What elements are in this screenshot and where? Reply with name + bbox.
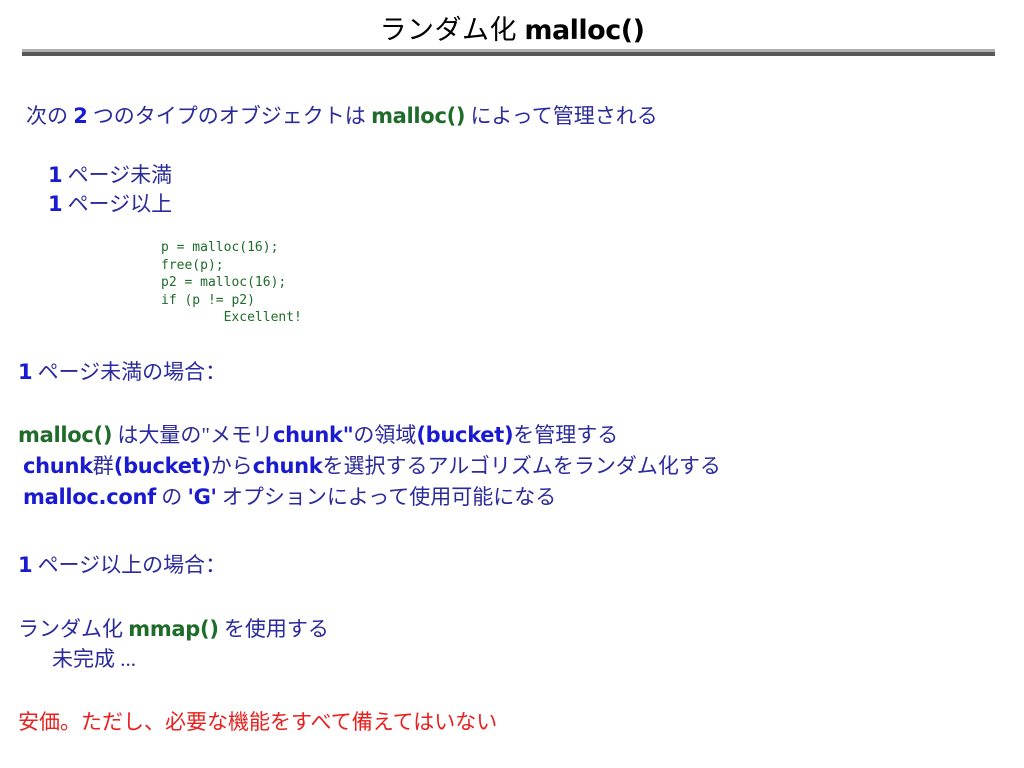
bullet-label: ページ以上 <box>68 192 173 216</box>
code-block: p = malloc(16); free(p); p2 = malloc(16)… <box>161 239 302 327</box>
line-2-text-c: を選択するアルゴリズムをランダム化する <box>322 454 720 478</box>
keyword-malloc: malloc() <box>18 423 112 447</box>
keyword-bucket: (bucket) <box>114 454 211 478</box>
section-one-line-3: malloc.conf の 'G' オプションによって使用可能になる <box>23 481 556 511</box>
intro-post: つのタイプのオブジェクトは <box>93 104 366 128</box>
footer-note: 安価。ただし、必要な機能をすべて備えてはいない <box>18 706 497 736</box>
line-2-text-b: から <box>211 454 253 478</box>
keyword-chunk: chunk <box>23 454 93 478</box>
section-two-heading: 1 ページ以上の場合： <box>18 549 226 579</box>
section-two-subline: 未完成 ... <box>52 643 136 673</box>
keyword-g-option: 'G' <box>187 485 216 509</box>
page-title: ランダム化 malloc() <box>0 8 1024 47</box>
line-1-text-c: を管理する <box>513 423 618 447</box>
section-one-heading: 1 ページ未満の場合： <box>18 356 226 386</box>
line-post: を使用する <box>224 617 329 641</box>
section-one-line-2: chunk群(bucket)からchunkを選択するアルゴリズムをランダム化する <box>23 450 721 480</box>
title-divider <box>22 49 995 56</box>
intro-pre: 次の <box>26 104 68 128</box>
section-two-heading-label: ページ以上の場合： <box>38 553 227 577</box>
section-two-number: 1 <box>18 553 32 577</box>
page-title-jp: ランダム化 <box>380 15 518 45</box>
bullet-label: ページ未満 <box>68 163 173 187</box>
keyword-chunk: chunk" <box>273 423 353 447</box>
intro-number: 2 <box>73 104 87 128</box>
keyword-chunk-2: chunk <box>253 454 323 478</box>
page-title-code: malloc() <box>524 15 644 46</box>
section-one-number: 1 <box>18 360 32 384</box>
bullet-item-under-one-page: 1 ページ未満 <box>48 159 172 189</box>
section-two-line-1: ランダム化 mmap() を使用する <box>18 613 329 643</box>
line-2-text-a: 群 <box>93 454 114 478</box>
keyword-bucket: (bucket) <box>416 423 513 447</box>
keyword-mmap: mmap() <box>128 617 218 641</box>
intro-tail: によって管理される <box>470 104 657 128</box>
intro-line: 次の 2 つのタイプのオブジェクトは malloc() によって管理される <box>26 100 658 130</box>
divider-shadow <box>22 52 995 56</box>
section-one-heading-label: ページ未満の場合： <box>38 360 227 384</box>
bullet-item-over-one-page: 1 ページ以上 <box>48 188 172 218</box>
bullet-number: 1 <box>48 163 62 187</box>
keyword-malloc-conf: malloc.conf <box>23 485 156 509</box>
line-pre: ランダム化 <box>18 617 123 641</box>
bullet-number: 1 <box>48 192 62 216</box>
line-1-text-a: は大量の"メモリ <box>117 423 273 447</box>
line-3-text-a: の <box>161 485 182 509</box>
line-1-text-b: の領域 <box>353 423 416 447</box>
line-3-text-b: オプションによって使用可能になる <box>222 485 556 509</box>
section-one-line-1: malloc() は大量の"メモリchunk"の領域(bucket)を管理する <box>18 419 618 449</box>
intro-keyword-malloc: malloc() <box>371 104 465 128</box>
